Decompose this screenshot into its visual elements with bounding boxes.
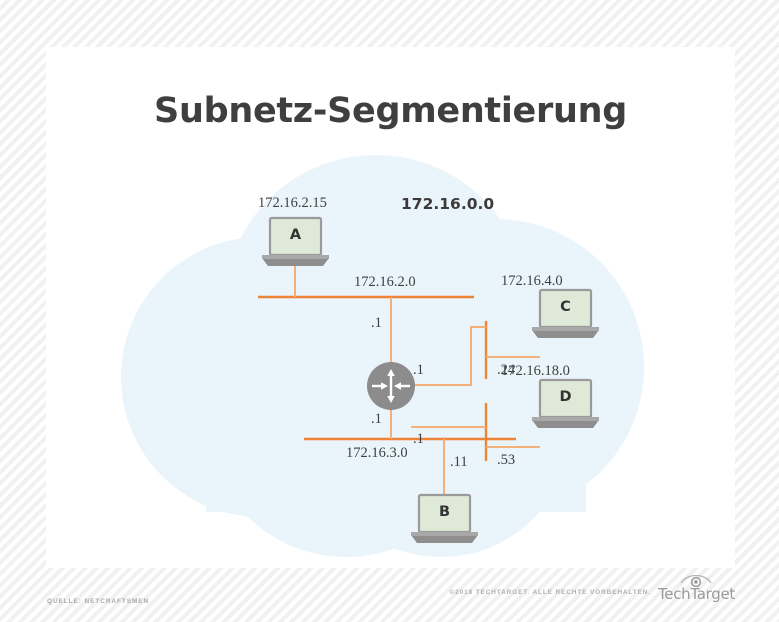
techtarget-wordmark: TechTarget bbox=[658, 587, 735, 602]
host-b-label: B bbox=[419, 504, 470, 520]
host-c-label: C bbox=[540, 299, 591, 315]
host-d-ip: .53 bbox=[497, 452, 515, 469]
subnet-2-label: 172.16.4.0 bbox=[501, 273, 563, 290]
host-b-ip: .11 bbox=[450, 454, 468, 471]
cloud-label: 172.16.0.0 bbox=[401, 195, 494, 213]
subnet-1-label: 172.16.2.0 bbox=[354, 274, 416, 291]
techtarget-logo: TechTarget bbox=[658, 572, 735, 602]
router-ip-subnet-4: .1 bbox=[371, 411, 382, 428]
copyright-text: ©2018 TECHTARGET. ALLE RECHTE VORBEHALTE… bbox=[450, 589, 651, 602]
page-root: Subnetz-Segmentierung bbox=[0, 0, 779, 622]
host-a-label: A bbox=[270, 227, 321, 243]
source-credit: QUELLE: NETCRAFTSMEN bbox=[47, 598, 149, 605]
host-c-ip: .24 bbox=[497, 362, 515, 379]
host-d-label: D bbox=[540, 389, 591, 405]
router-ip-subnet-2: .1 bbox=[413, 362, 424, 379]
content-card: Subnetz-Segmentierung bbox=[46, 47, 735, 568]
router-ip-subnet-3: .1 bbox=[413, 431, 424, 448]
router-ip-subnet-1: .1 bbox=[371, 315, 382, 332]
host-a-ip: 172.16.2.15 bbox=[258, 195, 327, 212]
footer-brand-area: ©2018 TECHTARGET. ALLE RECHTE VORBEHALTE… bbox=[450, 572, 735, 602]
network-cloud bbox=[121, 155, 644, 557]
network-diagram: 172.16.0.0 172.16.2.15 A B C D 172.16.2.… bbox=[46, 47, 735, 568]
router-icon bbox=[367, 362, 415, 410]
subnet-4-label: 172.16.3.0 bbox=[346, 445, 408, 462]
